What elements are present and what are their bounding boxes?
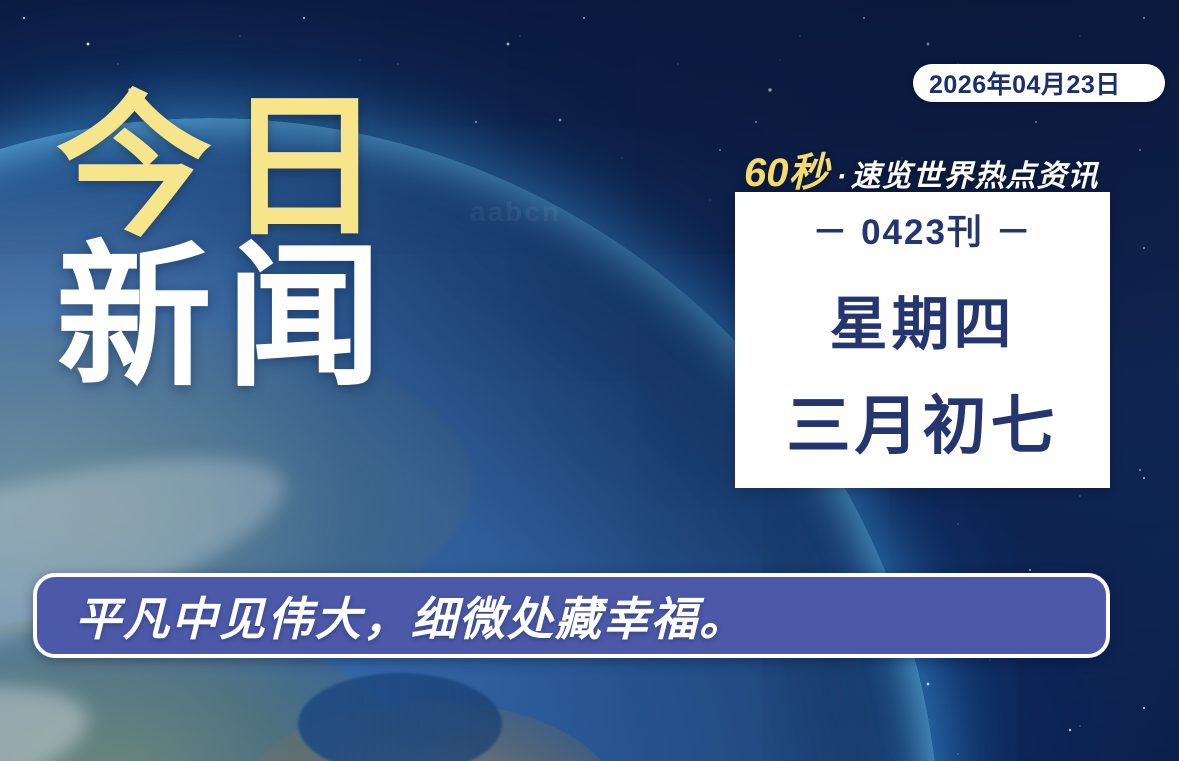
weekday-label: 星期四: [829, 277, 1015, 361]
date-badge: 2026年04月23日: [913, 64, 1165, 102]
tagline-separator: ·: [837, 160, 847, 194]
headline-line-2: 新闻: [56, 246, 396, 390]
tagline: 60秒 · 速览世界热点资讯: [744, 140, 1099, 198]
tagline-text: 速览世界热点资讯: [851, 151, 1099, 195]
page-title: 今日 新闻: [56, 96, 396, 389]
quote-text: 平凡中见伟大，细微处藏幸福。: [75, 583, 747, 649]
tagline-seconds: 60秒: [744, 140, 829, 198]
headline-line-1: 今日: [56, 96, 396, 240]
lunar-date-label: 三月初七: [787, 375, 1059, 467]
quote-banner: 平凡中见伟大，细微处藏幸福。: [33, 573, 1110, 658]
date-info-card: － 0423刊 － 星期四 三月初七: [735, 192, 1110, 488]
issue-number: － 0423刊 －: [812, 204, 1032, 255]
date-badge-label: 2026年04月23日: [929, 65, 1121, 101]
poster-canvas: aabcn 2026年04月23日 今日 新闻 60秒 · 速览世界热点资讯 －…: [0, 0, 1179, 761]
